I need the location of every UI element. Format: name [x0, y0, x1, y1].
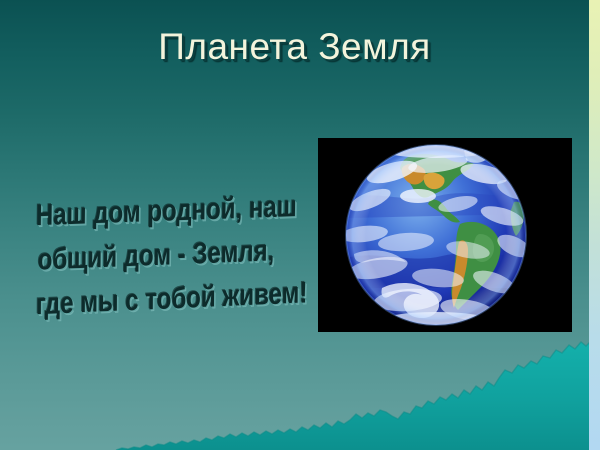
mountain-ridge-decoration: [0, 320, 600, 450]
slide-canvas: Планета Земля Наш дом родной, наш общий …: [0, 0, 600, 450]
earth-globe-icon: [318, 138, 572, 332]
earth-photo-frame: [318, 138, 572, 332]
slide-title: Планета Земля: [0, 26, 589, 68]
poem-block: Наш дом родной, наш общий дом - Земля, г…: [6, 190, 306, 322]
slide-right-border: [589, 0, 600, 450]
poem-line: где мы с тобой живем!: [36, 273, 277, 327]
